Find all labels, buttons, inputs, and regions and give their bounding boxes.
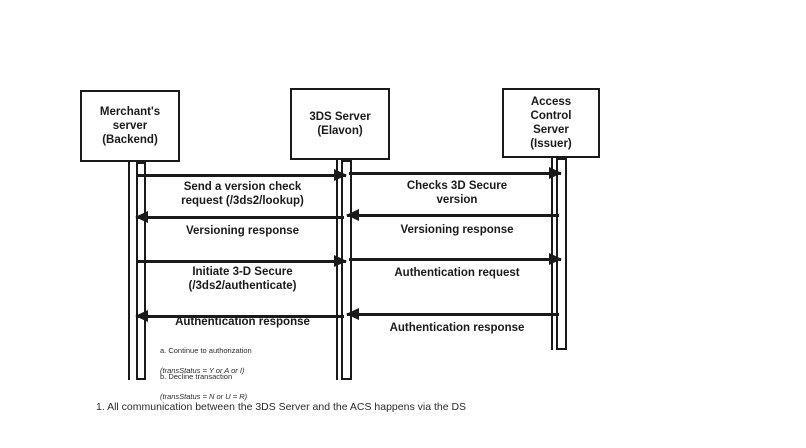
message-label-initiate-3d-secure: Initiate 3-D Secure (/3ds2/authenticate): [140, 266, 345, 293]
message-arrow-checks-3d-secure-version: [349, 172, 561, 175]
message-label-authentication-request: Authentication request: [353, 267, 561, 281]
arrowhead-right-icon: [334, 169, 347, 181]
message-label-authentication-response-left: Authentication response: [140, 316, 345, 330]
diagram-footnote: 1. All communication between the 3DS Ser…: [96, 400, 466, 414]
message-label-checks-3d-secure-version: Checks 3D Secure version: [353, 180, 561, 207]
message-label-authentication-response-right: Authentication response: [353, 322, 561, 336]
participant-access-control-server: Access Control Server (Issuer): [502, 88, 600, 158]
message-label-version-check-request: Send a version check request (/3ds2/look…: [140, 181, 345, 208]
sequence-diagram: Merchant's server (Backend) 3DS Server (…: [0, 0, 806, 448]
message-arrow-authentication-response-right: [347, 313, 559, 316]
message-arrow-initiate-3d-secure: [136, 260, 346, 263]
message-arrow-versioning-response-right: [347, 214, 559, 217]
message-arrow-versioning-response-left: [136, 216, 344, 219]
participant-merchant-server-label: Merchant's server (Backend): [96, 105, 164, 147]
message-arrow-authentication-request: [349, 258, 561, 261]
message-label-versioning-response-right: Versioning response: [353, 224, 561, 238]
participant-merchant-server: Merchant's server (Backend): [80, 90, 180, 162]
lifeline-merchant-server: [128, 162, 130, 380]
arrowhead-left-icon: [135, 211, 148, 223]
arrowhead-right-icon: [549, 253, 562, 265]
arrowhead-right-icon: [549, 167, 562, 179]
arrowhead-left-icon: [346, 209, 359, 221]
outcome-note-b-title: b. Decline transaction: [160, 372, 340, 382]
participant-3ds-server-label: 3DS Server (Elavon): [305, 110, 374, 138]
outcome-note-a-title: a. Continue to authorization: [160, 346, 340, 356]
message-label-versioning-response-left: Versioning response: [140, 225, 345, 239]
participant-3ds-server: 3DS Server (Elavon): [290, 88, 390, 160]
participant-access-control-server-label: Access Control Server (Issuer): [526, 95, 576, 151]
arrowhead-left-icon: [346, 308, 359, 320]
message-arrow-version-check-request: [136, 174, 346, 177]
